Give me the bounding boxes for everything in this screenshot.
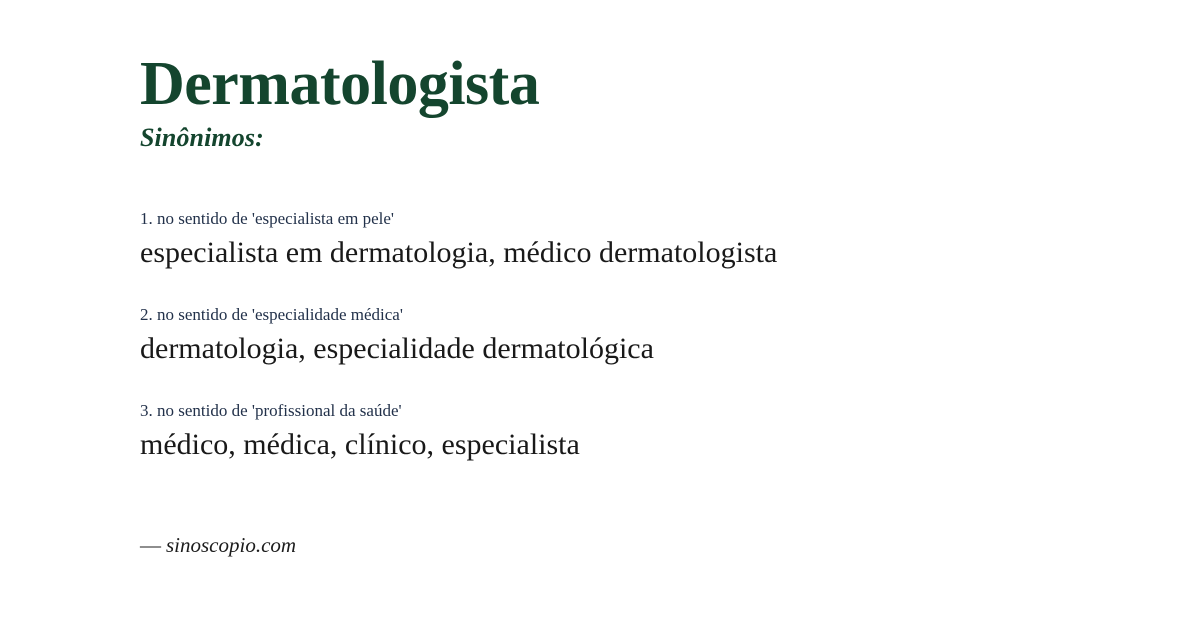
sense-label: 2. no sentido de 'especialidade médica': [140, 304, 1150, 327]
card-header: Dermatologista Sinônimos:: [140, 52, 1140, 152]
sense-synonyms: especialista em dermatologia, médico der…: [140, 233, 1150, 272]
subtitle-synonyms: Sinônimos:: [140, 124, 1140, 153]
sense-gloss: no sentido de 'profissional da saúde': [157, 401, 402, 420]
sense-number: 3.: [140, 401, 153, 420]
synonym-card: Dermatologista Sinônimos: 1. no sentido …: [0, 0, 1200, 628]
sense-number: 1.: [140, 209, 153, 228]
sense-gloss: no sentido de 'especialista em pele': [157, 209, 394, 228]
page-title: Dermatologista: [140, 52, 1140, 118]
sense-synonyms: dermatologia, especialidade dermatológic…: [140, 329, 1150, 368]
sense-label: 1. no sentido de 'especialista em pele': [140, 208, 1150, 231]
sense-entry: 2. no sentido de 'especialidade médica' …: [140, 304, 1150, 368]
em-dash-icon: —: [140, 533, 166, 557]
sense-label: 3. no sentido de 'profissional da saúde': [140, 400, 1150, 423]
attribution: —sinoscopio.com: [140, 533, 740, 558]
sense-gloss: no sentido de 'especialidade médica': [157, 305, 403, 324]
sense-entry: 3. no sentido de 'profissional da saúde'…: [140, 400, 1150, 464]
card-footer: —sinoscopio.com: [140, 533, 740, 558]
sense-number: 2.: [140, 305, 153, 324]
source-name: sinoscopio.com: [166, 533, 296, 557]
sense-entry: 1. no sentido de 'especialista em pele' …: [140, 208, 1150, 272]
sense-list: 1. no sentido de 'especialista em pele' …: [140, 208, 1150, 464]
sense-synonyms: médico, médica, clínico, especialista: [140, 425, 1150, 464]
